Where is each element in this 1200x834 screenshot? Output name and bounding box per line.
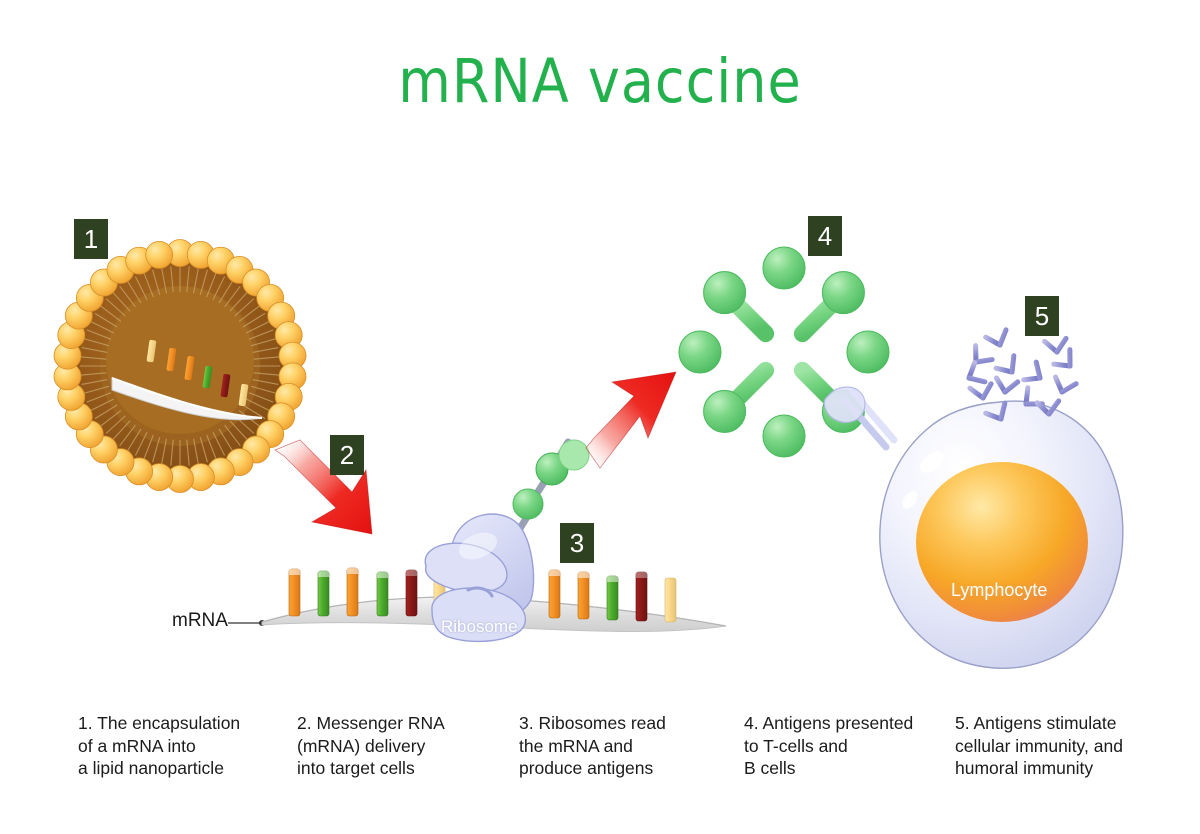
presentation-arrow-up [586, 372, 676, 468]
lymphocyte [880, 401, 1123, 668]
step-badge-5: 5 [1026, 297, 1058, 335]
step-badge-1: 1 [75, 220, 107, 258]
antigen-spike-head [763, 415, 805, 457]
antigen-spike-stem [736, 304, 766, 334]
antigen-complex [679, 247, 889, 457]
peptide-chain [513, 440, 589, 535]
caption-step-3: 3. Ribosomes read the mRNA and produce a… [519, 712, 729, 780]
diagram-canvas: mRNA vaccine [0, 0, 1200, 834]
antigen-spike-head [704, 390, 746, 432]
antigen-spike-head [763, 247, 805, 289]
antigen-spike-head [679, 331, 721, 373]
antigen-spike-stem [802, 304, 832, 334]
lipid-head-group [146, 241, 173, 268]
antigen-spike-head [847, 331, 889, 373]
receptor-fork [824, 387, 894, 447]
antigen-spike-head [822, 272, 864, 314]
caption-step-1: 1. The encapsulation of a mRNA into a li… [78, 712, 288, 780]
step-badge-3: 3 [561, 524, 593, 562]
caption-step-2: 2. Messenger RNA (mRNA) delivery into ta… [297, 712, 502, 780]
ribosome [425, 514, 533, 641]
antibody-icon [947, 363, 984, 397]
step-badge-4: 4 [809, 217, 841, 255]
caption-row: 1. The encapsulation of a mRNA into a li… [0, 712, 1200, 812]
caption-step-4: 4. Antigens presented to T-cells and B c… [744, 712, 944, 780]
lipid-nanoparticle [54, 240, 306, 493]
antigen-spike-head [704, 272, 746, 314]
antigen-spike-stem [736, 370, 766, 400]
caption-step-5: 5. Antigens stimulate cellular immunity,… [955, 712, 1170, 780]
step-badge-2: 2 [331, 436, 363, 474]
diagram-artwork [0, 0, 1200, 834]
